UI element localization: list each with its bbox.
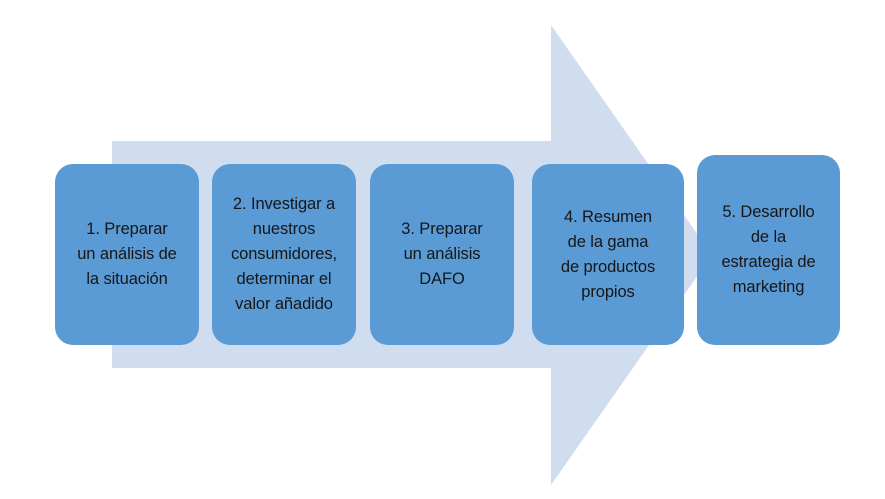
process-step-4[interactable]: 4. Resumen de la gama de productos propi… bbox=[532, 164, 684, 345]
process-step-5-label: 5. Desarrollo de la estrategia de market… bbox=[706, 200, 831, 300]
process-step-3[interactable]: 3. Preparar un análisis DAFO bbox=[370, 164, 514, 345]
process-step-2[interactable]: 2. Investigar a nuestros consumidores, d… bbox=[212, 164, 356, 345]
process-step-1[interactable]: 1. Preparar un análisis de la situación bbox=[55, 164, 199, 345]
process-step-2-label: 2. Investigar a nuestros consumidores, d… bbox=[221, 192, 347, 317]
process-step-4-label: 4. Resumen de la gama de productos propi… bbox=[541, 205, 675, 305]
process-step-3-label: 3. Preparar un análisis DAFO bbox=[379, 217, 505, 292]
process-step-1-label: 1. Preparar un análisis de la situación bbox=[64, 217, 190, 292]
process-step-5[interactable]: 5. Desarrollo de la estrategia de market… bbox=[697, 155, 840, 345]
process-diagram-canvas: 1. Preparar un análisis de la situación … bbox=[0, 0, 885, 499]
